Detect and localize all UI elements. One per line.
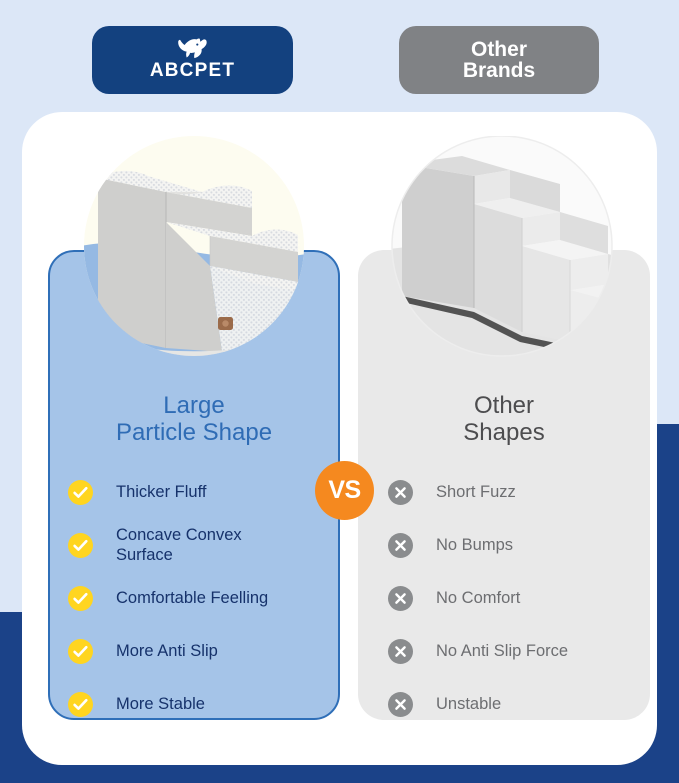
list-item-label: More Anti Slip [116, 642, 218, 661]
check-circle-icon [68, 533, 93, 558]
check-circle-icon [68, 586, 93, 611]
check-circle-icon [68, 639, 93, 664]
list-item-label: Comfortable Feelling [116, 589, 268, 608]
panel-title-other: Other Shapes [358, 392, 650, 447]
check-circle-icon [68, 692, 93, 717]
list-item-label-line1: Concave Convex [116, 526, 242, 544]
vs-label: VS [328, 476, 360, 505]
list-item: Thicker Fluff [68, 466, 326, 519]
x-circle-icon [388, 692, 413, 717]
list-item-label: Thicker Fluff [116, 483, 206, 502]
list-item-label: No Comfort [436, 589, 520, 608]
panel-title-other-line1: Other [474, 392, 534, 419]
list-item-label: No Bumps [436, 536, 513, 555]
list-item: Short Fuzz [388, 466, 646, 519]
x-circle-icon [388, 586, 413, 611]
feature-list-abcpet: Thicker Fluff Concave ConvexSurface Comf… [68, 466, 326, 731]
panel-title-abcpet-line2: Particle Shape [116, 419, 272, 446]
list-item-label-line2: Surface [116, 546, 173, 564]
list-item-label: Unstable [436, 695, 501, 714]
list-item: More Stable [68, 678, 326, 731]
x-circle-icon [388, 533, 413, 558]
other-brands-label: Other Brands [463, 39, 535, 82]
list-item-label: Concave ConvexSurface [116, 526, 242, 564]
dog-head-icon [176, 38, 210, 60]
list-item: No Comfort [388, 572, 646, 625]
product-image-other [378, 136, 626, 368]
list-item: No Anti Slip Force [388, 625, 646, 678]
vs-badge: VS [315, 461, 374, 520]
check-circle-icon [68, 480, 93, 505]
list-item: Comfortable Feelling [68, 572, 326, 625]
brand-pill: ABCPET [92, 26, 293, 94]
feature-list-other: Short Fuzz No Bumps No Comfort No Anti S… [388, 466, 646, 731]
list-item: Concave ConvexSurface [68, 519, 326, 572]
panel-title-abcpet-line1: Large [163, 392, 224, 419]
infographic-canvas: ABCPET Other Brands [0, 0, 679, 783]
list-item-label: Short Fuzz [436, 483, 516, 502]
list-item: More Anti Slip [68, 625, 326, 678]
panel-title-abcpet: Large Particle Shape [48, 392, 340, 447]
list-item-label: No Anti Slip Force [436, 642, 568, 661]
brand-name-label: ABCPET [150, 60, 235, 82]
x-circle-icon [388, 639, 413, 664]
list-item-label: More Stable [116, 695, 205, 714]
list-item: No Bumps [388, 519, 646, 572]
x-circle-icon [388, 480, 413, 505]
list-item: Unstable [388, 678, 646, 731]
panel-title-other-line2: Shapes [463, 419, 544, 446]
product-image-abcpet [70, 136, 318, 368]
other-brands-line2: Brands [463, 59, 535, 82]
other-brands-line1: Other [471, 38, 527, 61]
other-brands-pill: Other Brands [399, 26, 599, 94]
